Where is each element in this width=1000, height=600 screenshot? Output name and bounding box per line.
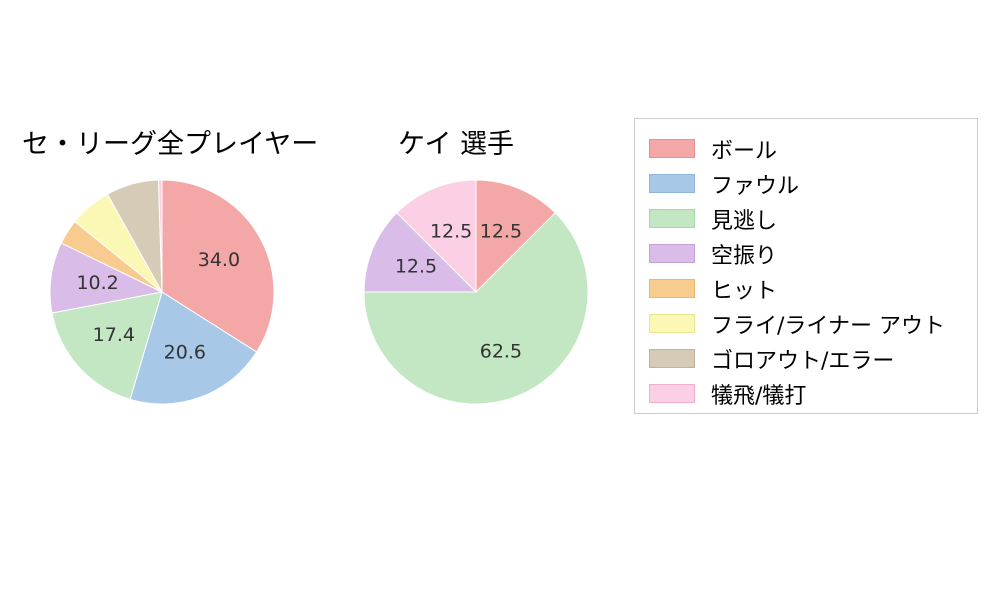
legend-swatch [649, 384, 695, 403]
legend-item[interactable]: ボール [649, 131, 963, 166]
legend-item-label: ボール [711, 133, 777, 165]
legend-swatch [649, 139, 695, 158]
legend-swatch [649, 244, 695, 263]
pie-slice-label: 62.5 [480, 341, 522, 363]
pie-slice-label: 12.5 [430, 221, 472, 243]
right-pie-svg: 12.562.512.512.5 [362, 178, 590, 406]
right-pie-chart: 12.562.512.512.5 [362, 178, 590, 406]
legend-item[interactable]: ゴロアウト/エラー [649, 341, 963, 376]
legend-swatch [649, 314, 695, 333]
pie-slice-label: 10.2 [76, 272, 118, 294]
legend-item[interactable]: 犠飛/犠打 [649, 376, 963, 411]
left-pie-chart: 34.020.617.410.2 [48, 178, 276, 406]
chart-canvas: セ・リーグ全プレイヤー ケイ 選手 34.020.617.410.2 12.56… [0, 0, 1000, 600]
legend-item-label: 空振り [711, 238, 777, 270]
pie-slice-label: 17.4 [93, 324, 135, 346]
legend-item-label: ファウル [711, 168, 799, 200]
legend-item[interactable]: 空振り [649, 236, 963, 271]
left-pie-title: セ・リーグ全プレイヤー [22, 122, 318, 161]
pie-slice-label: 12.5 [395, 256, 437, 278]
legend-item[interactable]: ヒット [649, 271, 963, 306]
legend-item-label: フライ/ライナー アウト [711, 308, 945, 340]
legend: ボールファウル見逃し空振りヒットフライ/ライナー アウトゴロアウト/エラー犠飛/… [634, 118, 978, 414]
legend-swatch [649, 279, 695, 298]
legend-item-label: 犠飛/犠打 [711, 378, 806, 410]
legend-item[interactable]: フライ/ライナー アウト [649, 306, 963, 341]
legend-items: ボールファウル見逃し空振りヒットフライ/ライナー アウトゴロアウト/エラー犠飛/… [649, 131, 963, 411]
legend-item[interactable]: ファウル [649, 166, 963, 201]
legend-item[interactable]: 見逃し [649, 201, 963, 236]
pie-slice-label: 20.6 [164, 341, 206, 363]
left-pie-svg: 34.020.617.410.2 [48, 178, 276, 406]
legend-item-label: ヒット [711, 273, 777, 305]
legend-swatch [649, 209, 695, 228]
right-pie-slices [364, 180, 588, 404]
legend-swatch [649, 349, 695, 368]
pie-slice-label: 34.0 [198, 249, 240, 271]
pie-slice-label: 12.5 [480, 221, 522, 243]
legend-item-label: ゴロアウト/エラー [711, 343, 894, 375]
legend-item-label: 見逃し [711, 203, 777, 235]
legend-swatch [649, 174, 695, 193]
right-pie-title: ケイ 選手 [398, 122, 514, 161]
